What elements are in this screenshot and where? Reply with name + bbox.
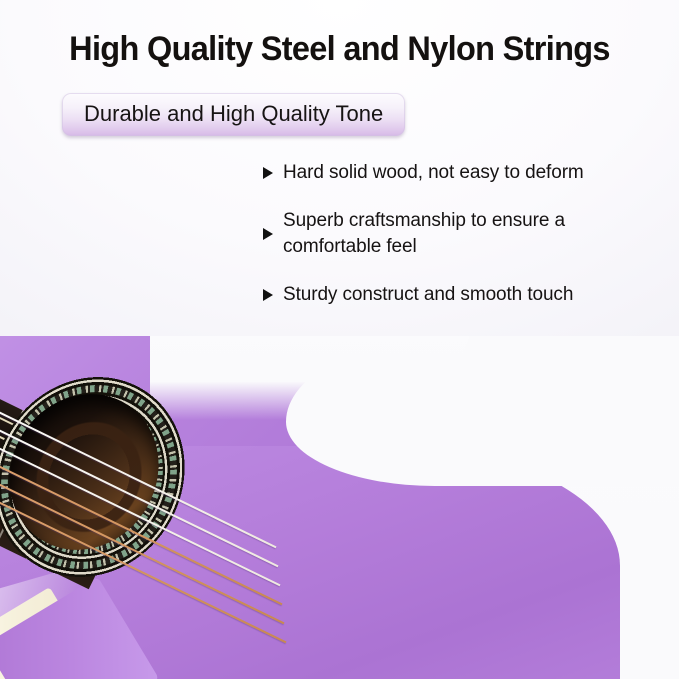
guitar-string (0, 377, 278, 567)
guitar-string (0, 358, 276, 548)
badge-container: Durable and High Quality Tone (62, 93, 405, 136)
triangle-bullet-icon (263, 289, 273, 301)
product-feature-image: High Quality Steel and Nylon Strings Dur… (0, 0, 679, 679)
list-item-label: Hard solid wood, not easy to deform (283, 160, 584, 186)
triangle-bullet-icon (263, 167, 273, 179)
list-item: Sturdy construct and smooth touch (263, 282, 667, 308)
guitar-string (0, 396, 280, 586)
page-title: High Quality Steel and Nylon Strings (15, 26, 663, 72)
list-item-label: Sturdy construct and smooth touch (283, 282, 573, 308)
feature-list: Hard solid wood, not easy to deform Supe… (263, 160, 667, 330)
triangle-bullet-icon (263, 228, 273, 240)
list-item: Hard solid wood, not easy to deform (263, 160, 667, 186)
guitar-strings (0, 336, 679, 679)
status-badge: Durable and High Quality Tone (62, 93, 405, 136)
product-photo (0, 336, 679, 679)
guitar-string (0, 415, 282, 605)
list-item: Superb craftsmanship to ensure a comfort… (263, 208, 667, 260)
list-item-label: Superb craftsmanship to ensure a comfort… (283, 208, 667, 260)
